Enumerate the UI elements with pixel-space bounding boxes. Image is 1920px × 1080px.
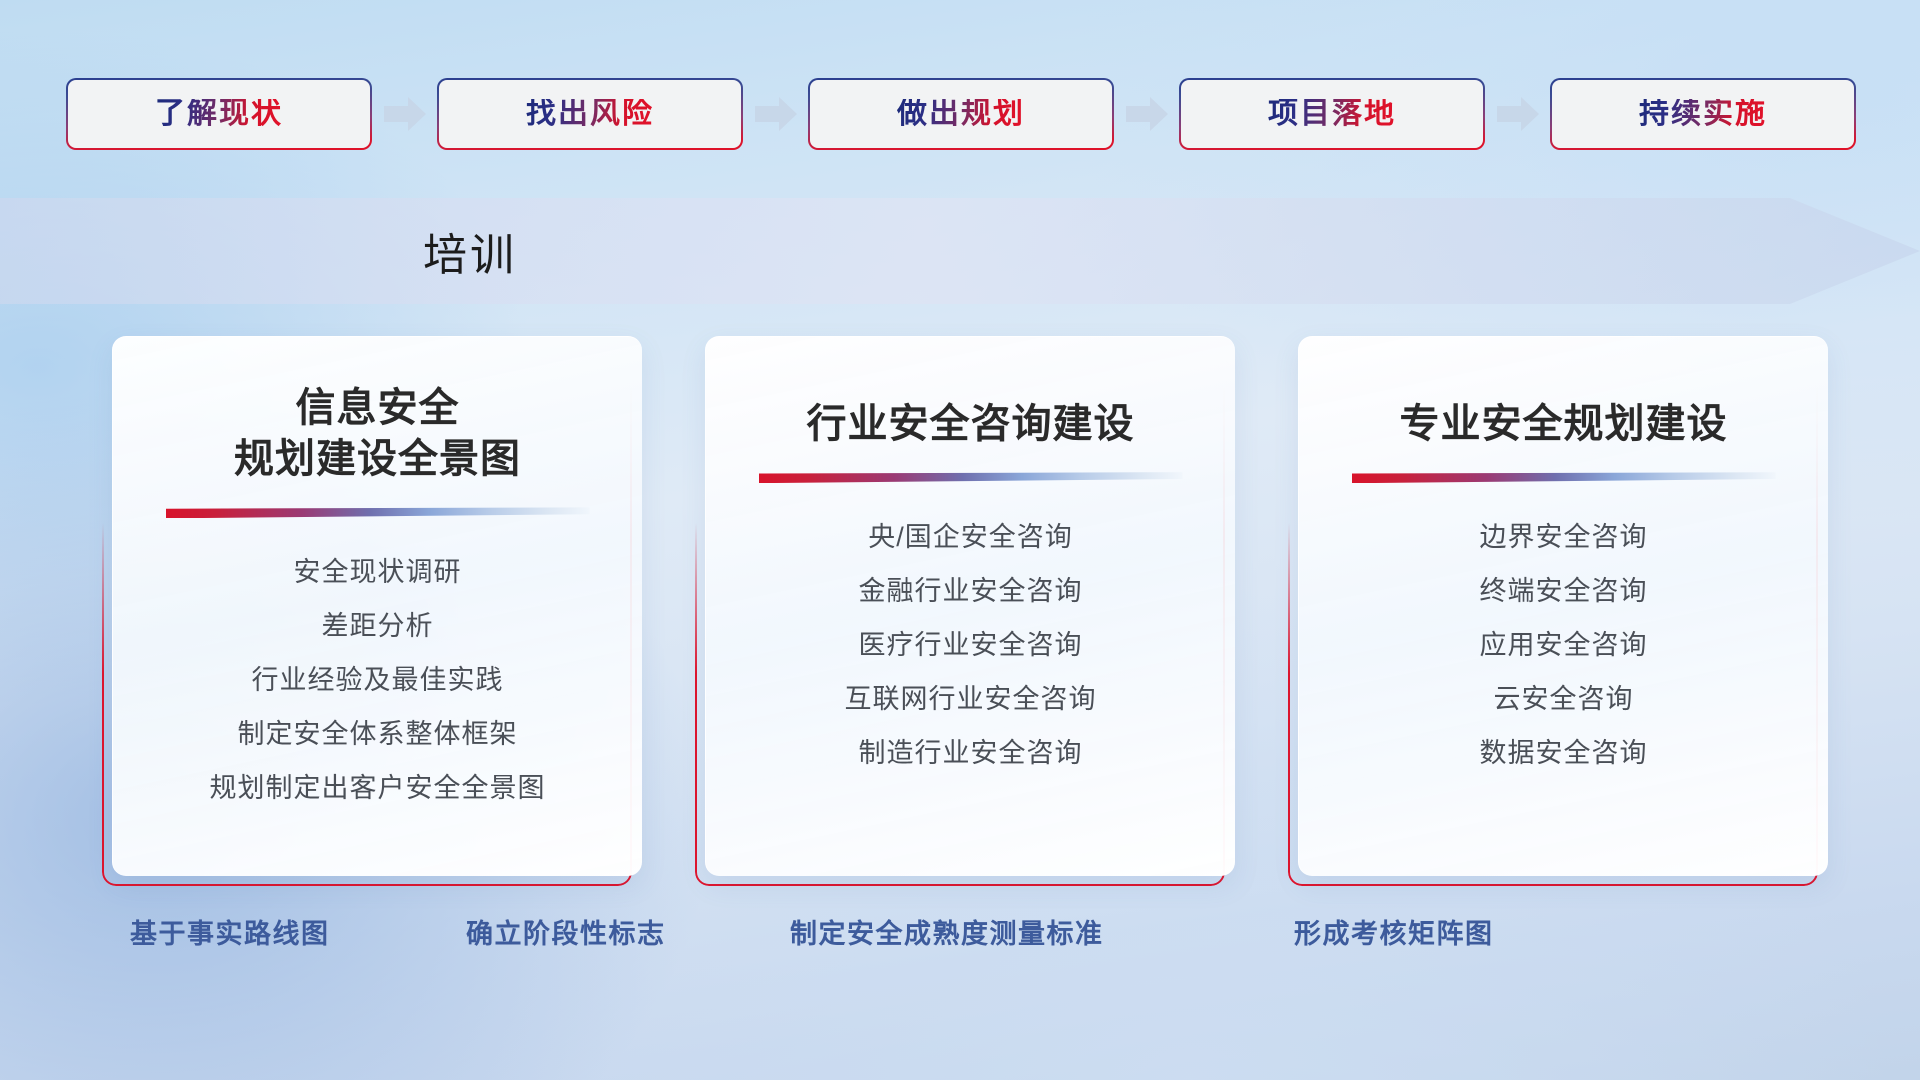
right-arrow-icon: [1126, 97, 1168, 131]
card-item-list: 安全现状调研差距分析行业经验及最佳实践制定安全体系整体框架规划制定出客户安全全景…: [143, 552, 612, 809]
card-divider: [166, 507, 590, 518]
card-row: 信息安全 规划建设全景图安全现状调研差距分析行业经验及最佳实践制定安全体系整体框…: [112, 336, 1828, 876]
step-button-5[interactable]: 持续实施: [1550, 78, 1856, 150]
card-divider: [1352, 472, 1776, 483]
list-item: 行业经验及最佳实践: [252, 660, 504, 702]
list-item: 互联网行业安全咨询: [845, 679, 1097, 721]
card-item-list: 边界安全咨询终端安全咨询应用安全咨询云安全咨询数据安全咨询: [1329, 517, 1798, 774]
list-item: 云安全咨询: [1494, 679, 1634, 721]
right-arrow-icon: [384, 97, 426, 131]
footnote-label-4: 形成考核矩阵图: [1294, 912, 1494, 951]
list-item: 央/国企安全咨询: [868, 517, 1073, 559]
card-body: 行业安全咨询建设央/国企安全咨询金融行业安全咨询医疗行业安全咨询互联网行业安全咨…: [705, 336, 1235, 876]
process-step-row: 了解现状找出风险做出规划项目落地持续实施: [66, 78, 1856, 150]
card-divider-gradient: [1352, 472, 1776, 483]
list-item: 规划制定出客户安全全景图: [210, 768, 546, 810]
step-button-4[interactable]: 项目落地: [1179, 78, 1485, 150]
step-button-2[interactable]: 找出风险: [437, 78, 743, 150]
list-item: 制定安全体系整体框架: [238, 714, 518, 756]
list-item: 差距分析: [322, 606, 434, 648]
list-item: 数据安全咨询: [1480, 733, 1648, 775]
list-item: 安全现状调研: [294, 552, 462, 594]
list-item: 终端安全咨询: [1480, 571, 1648, 613]
step-button-label: 持续实施: [1639, 99, 1767, 129]
slide-canvas: 了解现状找出风险做出规划项目落地持续实施 培训 信息安全 规划建设全景图安全现状…: [0, 0, 1920, 1080]
list-item: 边界安全咨询: [1480, 517, 1648, 559]
list-item: 制造行业安全咨询: [859, 733, 1083, 775]
card-item-list: 央/国企安全咨询金融行业安全咨询医疗行业安全咨询互联网行业安全咨询制造行业安全咨…: [736, 517, 1205, 774]
footnote-row: 基于事实路线图确立阶段性标志制定安全成熟度测量标准形成考核矩阵图: [0, 912, 1920, 964]
training-banner: 培训: [0, 198, 1920, 304]
footnote-label-2: 确立阶段性标志: [466, 912, 666, 951]
card-divider: [759, 472, 1183, 483]
footnote-label-1: 基于事实路线图: [130, 912, 330, 951]
service-card-2[interactable]: 行业安全咨询建设央/国企安全咨询金融行业安全咨询医疗行业安全咨询互联网行业安全咨…: [705, 336, 1235, 876]
card-title: 行业安全咨询建设: [807, 399, 1135, 450]
step-button-1[interactable]: 了解现状: [66, 78, 372, 150]
step-button-label: 找出风险: [526, 99, 654, 129]
service-card-1[interactable]: 信息安全 规划建设全景图安全现状调研差距分析行业经验及最佳实践制定安全体系整体框…: [112, 336, 642, 876]
step-button-label: 了解现状: [155, 99, 283, 129]
card-title: 专业安全规划建设: [1400, 399, 1728, 450]
card-title: 信息安全 规划建设全景图: [234, 383, 521, 485]
step-button-label: 项目落地: [1268, 99, 1396, 129]
right-arrow-icon: [755, 97, 797, 131]
card-body: 专业安全规划建设边界安全咨询终端安全咨询应用安全咨询云安全咨询数据安全咨询: [1298, 336, 1828, 876]
list-item: 医疗行业安全咨询: [859, 625, 1083, 667]
footnote-label-3: 制定安全成熟度测量标准: [790, 912, 1104, 951]
card-divider-gradient: [166, 507, 590, 518]
banner-title: 培训: [0, 198, 1920, 304]
step-button-3[interactable]: 做出规划: [808, 78, 1114, 150]
card-divider-gradient: [759, 472, 1183, 483]
card-body: 信息安全 规划建设全景图安全现状调研差距分析行业经验及最佳实践制定安全体系整体框…: [112, 336, 642, 876]
right-arrow-icon: [1497, 97, 1539, 131]
step-button-label: 做出规划: [897, 99, 1025, 129]
list-item: 金融行业安全咨询: [859, 571, 1083, 613]
service-card-3[interactable]: 专业安全规划建设边界安全咨询终端安全咨询应用安全咨询云安全咨询数据安全咨询: [1298, 336, 1828, 876]
list-item: 应用安全咨询: [1480, 625, 1648, 667]
